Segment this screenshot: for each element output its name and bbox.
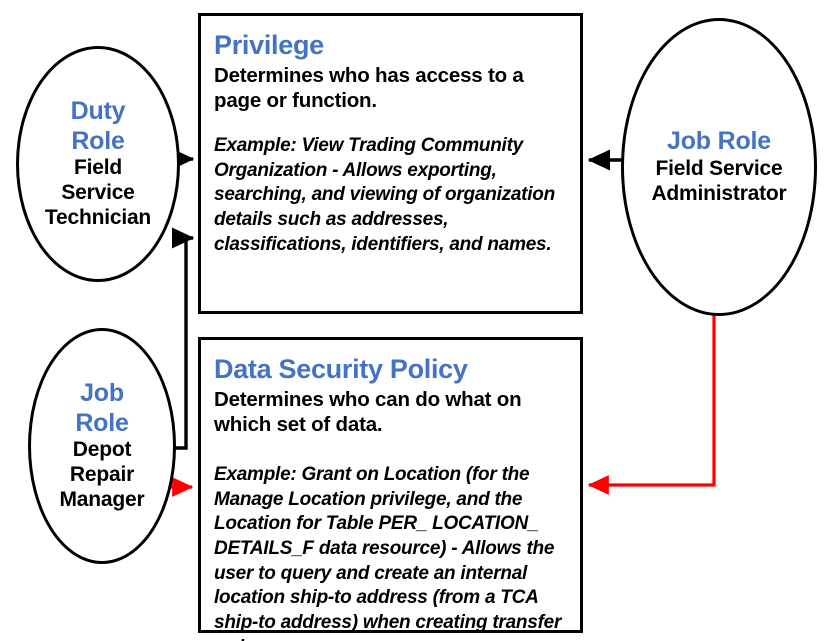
duty-role-subtitle-line3: Technician — [45, 206, 151, 231]
duty-role-subtitle-line1: Field — [74, 156, 122, 181]
job-role-depot-title-line2: Role — [75, 409, 128, 439]
node-job-role-field-service-administrator[interactable]: Job Role Field Service Administrator — [621, 18, 817, 316]
node-job-role-depot-repair-manager[interactable]: Job Role Depot Repair Manager — [28, 328, 176, 564]
connector-job-role-admin-to-dsp — [589, 312, 714, 485]
data-security-policy-title: Data Security Policy — [214, 354, 568, 386]
node-duty-role[interactable]: Duty Role Field Service Technician — [16, 46, 180, 282]
job-role-depot-subtitle-line2: Repair — [70, 463, 134, 488]
data-security-policy-example: Example: Grant on Location (for the Mana… — [214, 463, 568, 641]
duty-role-title-line2: Role — [71, 127, 124, 157]
node-privilege[interactable]: Privilege Determines who has access to a… — [198, 13, 583, 314]
job-role-admin-title: Job Role — [667, 127, 771, 157]
job-role-depot-subtitle-line3: Manager — [60, 488, 145, 513]
data-security-policy-description: Determines who can do what on which set … — [214, 387, 568, 437]
job-role-admin-subtitle-line2: Administrator — [651, 182, 786, 207]
privilege-title: Privilege — [214, 30, 568, 62]
job-role-admin-subtitle-line1: Field Service — [656, 157, 783, 182]
job-role-depot-title-line1: Job — [80, 379, 124, 409]
job-role-depot-subtitle-line1: Depot — [73, 438, 132, 463]
duty-role-subtitle-line2: Service — [61, 181, 134, 206]
diagram-canvas: Duty Role Field Service Technician Job R… — [0, 0, 828, 641]
duty-role-title-line1: Duty — [71, 97, 126, 127]
node-data-security-policy[interactable]: Data Security Policy Determines who can … — [198, 337, 583, 633]
privilege-description: Determines who has access to a page or f… — [214, 63, 568, 113]
privilege-example: Example: View Trading Community Organiza… — [214, 134, 568, 257]
